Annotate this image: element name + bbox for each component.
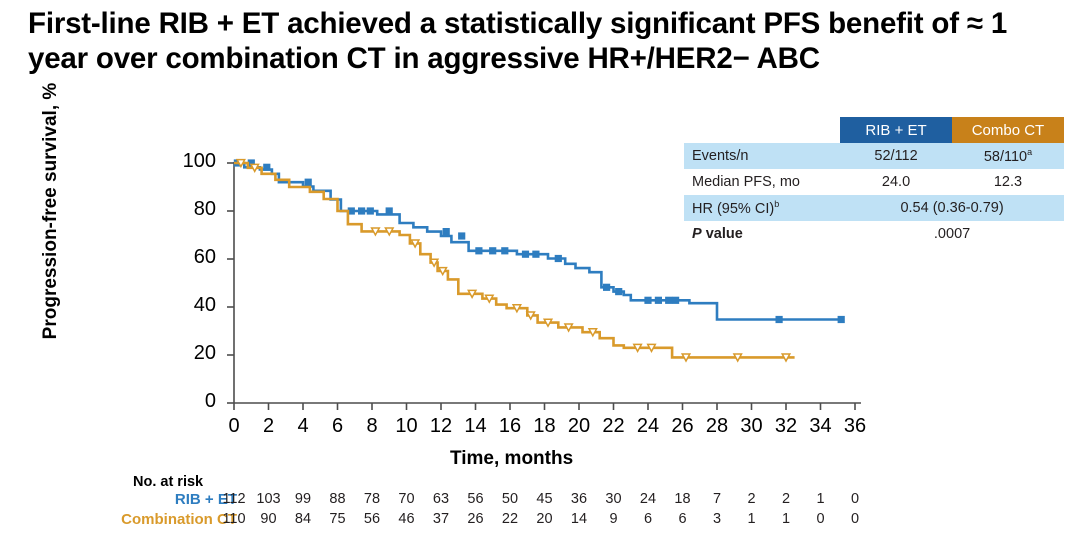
censor-marker-rib (490, 248, 496, 254)
censor-marker-rib (359, 208, 365, 214)
censor-marker-combo (468, 290, 476, 297)
row-label-hr: HR (95% CI)b (684, 195, 840, 221)
risk-value: 1 (737, 511, 767, 527)
risk-value: 45 (530, 491, 560, 507)
table-row: Median PFS, mo 24.0 12.3 (684, 169, 1064, 195)
x-axis-title: Time, months (450, 448, 573, 470)
censor-marker-rib (264, 164, 270, 170)
censor-marker-rib (443, 229, 449, 235)
x-axis-tick-label: 20 (564, 415, 594, 438)
table-header-rib: RIB + ET (840, 117, 952, 143)
censor-marker-rib (502, 248, 508, 254)
censor-marker-rib (673, 297, 679, 303)
risk-value: 56 (461, 491, 491, 507)
censor-marker-combo (439, 268, 447, 275)
risk-value: 103 (254, 491, 284, 507)
risk-value: 88 (323, 491, 353, 507)
row-label-events: Events/n (684, 143, 840, 169)
table-row: P value .0007 (684, 221, 1064, 247)
risk-value: 2 (771, 491, 801, 507)
x-axis-tick-label: 22 (599, 415, 629, 438)
censor-marker-rib (459, 233, 465, 239)
x-axis-tick-label: 16 (495, 415, 525, 438)
cell-events-rib: 52/112 (840, 143, 952, 169)
row-label-pvalue-text: value (702, 226, 743, 242)
risk-value: 70 (392, 491, 422, 507)
censor-marker-rib (348, 208, 354, 214)
censor-marker-combo (513, 305, 521, 312)
risk-value: 20 (530, 511, 560, 527)
censor-marker-rib (386, 208, 392, 214)
censor-marker-rib (555, 255, 561, 261)
plot-svg (0, 0, 1080, 543)
y-axis-tick-label: 20 (168, 342, 216, 365)
censor-marker-combo (634, 344, 642, 351)
censor-marker-combo (648, 344, 656, 351)
censor-marker-combo (589, 329, 597, 336)
cell-hr-value: 0.54 (0.36-0.79) (840, 195, 1064, 221)
risk-value: 24 (633, 491, 663, 507)
x-axis-tick-label: 30 (737, 415, 767, 438)
risk-value: 37 (426, 511, 456, 527)
risk-value: 6 (668, 511, 698, 527)
risk-value: 99 (288, 491, 318, 507)
risk-value: 112 (219, 491, 249, 507)
x-axis-tick-label: 28 (702, 415, 732, 438)
y-axis-tick-label: 40 (168, 294, 216, 317)
risk-value: 9 (599, 511, 629, 527)
table-header-combo: Combo CT (952, 117, 1064, 143)
y-axis-tick-label: 0 (168, 390, 216, 413)
censor-marker-rib (604, 284, 610, 290)
risk-value: 0 (806, 511, 836, 527)
risk-value: 1 (771, 511, 801, 527)
risk-value: 6 (633, 511, 663, 527)
risk-value: 30 (599, 491, 629, 507)
x-axis-tick-label: 12 (426, 415, 456, 438)
risk-value: 14 (564, 511, 594, 527)
y-axis-tick-label: 100 (168, 150, 216, 173)
x-axis-tick-label: 32 (771, 415, 801, 438)
y-axis-tick-label: 60 (168, 246, 216, 269)
results-table: RIB + ET Combo CT Events/n 52/112 58/110… (684, 117, 1064, 247)
x-axis-tick-label: 4 (288, 415, 318, 438)
risk-row-label-rib: RIB + ET (47, 491, 237, 508)
risk-value: 1 (806, 491, 836, 507)
risk-table-title: No. at risk (133, 474, 203, 490)
censor-marker-rib (776, 316, 782, 322)
table-row: Events/n 52/112 58/110a (684, 143, 1064, 169)
risk-value: 0 (840, 491, 870, 507)
censor-marker-combo (682, 354, 690, 361)
censor-marker-rib (476, 248, 482, 254)
censor-marker-rib (655, 297, 661, 303)
censor-marker-rib (645, 297, 651, 303)
page-title: First-line RIB + ET achieved a statistic… (28, 6, 1038, 76)
cell-pvalue: .0007 (840, 221, 1064, 247)
x-axis-tick-label: 14 (461, 415, 491, 438)
risk-value: 90 (254, 511, 284, 527)
table-header-row: RIB + ET Combo CT (684, 117, 1064, 143)
risk-value: 56 (357, 511, 387, 527)
risk-value: 78 (357, 491, 387, 507)
risk-row-label-combo: Combination CT (47, 511, 237, 528)
footnote-marker-a: a (1027, 147, 1032, 157)
risk-value: 2 (737, 491, 767, 507)
censor-marker-combo (385, 228, 393, 235)
y-axis-tick-label: 80 (168, 198, 216, 221)
x-axis-tick-label: 34 (806, 415, 836, 438)
x-axis-tick-label: 24 (633, 415, 663, 438)
risk-value: 22 (495, 511, 525, 527)
risk-value: 75 (323, 511, 353, 527)
censor-marker-rib (533, 251, 539, 257)
risk-value: 26 (461, 511, 491, 527)
censor-marker-rib (367, 208, 373, 214)
censor-marker-combo (430, 259, 438, 266)
censor-marker-combo (734, 354, 742, 361)
risk-value: 46 (392, 511, 422, 527)
risk-value: 110 (219, 511, 249, 527)
censor-marker-combo (251, 164, 259, 171)
cell-events-combo: 58/110a (952, 143, 1064, 169)
censor-marker-rib (305, 179, 311, 185)
row-label-pvalue: P value (684, 221, 840, 247)
cell-median-combo: 12.3 (952, 169, 1064, 195)
censor-marker-rib (248, 160, 254, 166)
censor-marker-combo (411, 240, 419, 247)
x-axis-tick-label: 6 (323, 415, 353, 438)
censor-marker-combo (527, 312, 535, 319)
x-axis-tick-label: 10 (392, 415, 422, 438)
censor-marker-combo (782, 354, 790, 361)
x-axis-tick-label: 2 (254, 415, 284, 438)
table-row: HR (95% CI)b 0.54 (0.36-0.79) (684, 195, 1064, 221)
censor-marker-rib (666, 297, 672, 303)
risk-value: 63 (426, 491, 456, 507)
cell-events-combo-value: 58/110 (984, 149, 1027, 165)
y-axis-title: Progression-free survival, % (40, 76, 62, 346)
censor-marker-combo (486, 295, 494, 302)
risk-value: 18 (668, 491, 698, 507)
risk-value: 3 (702, 511, 732, 527)
row-label-median-pfs: Median PFS, mo (684, 169, 840, 195)
risk-value: 84 (288, 511, 318, 527)
censor-marker-combo (372, 228, 380, 235)
censor-marker-combo (544, 319, 552, 326)
x-axis-tick-label: 18 (530, 415, 560, 438)
risk-value: 0 (840, 511, 870, 527)
risk-value: 7 (702, 491, 732, 507)
table-header-blank (684, 117, 840, 143)
footnote-marker-b: b (774, 199, 779, 209)
row-label-hr-text: HR (95% CI) (692, 201, 774, 217)
x-axis-tick-label: 26 (668, 415, 698, 438)
x-axis-tick-label: 0 (219, 415, 249, 438)
censor-marker-combo (237, 160, 245, 167)
censor-marker-rib (234, 160, 240, 166)
risk-value: 36 (564, 491, 594, 507)
kaplan-meier-chart: Progression-free survival, % Time, month… (0, 0, 1080, 543)
x-axis-tick-label: 8 (357, 415, 387, 438)
row-label-pvalue-italic: P (692, 226, 702, 242)
censor-marker-rib (522, 251, 528, 257)
cell-median-rib: 24.0 (840, 169, 952, 195)
censor-marker-rib (838, 316, 844, 322)
censor-marker-rib (616, 289, 622, 295)
censor-marker-combo (565, 324, 573, 331)
risk-value: 50 (495, 491, 525, 507)
x-axis-tick-label: 36 (840, 415, 870, 438)
